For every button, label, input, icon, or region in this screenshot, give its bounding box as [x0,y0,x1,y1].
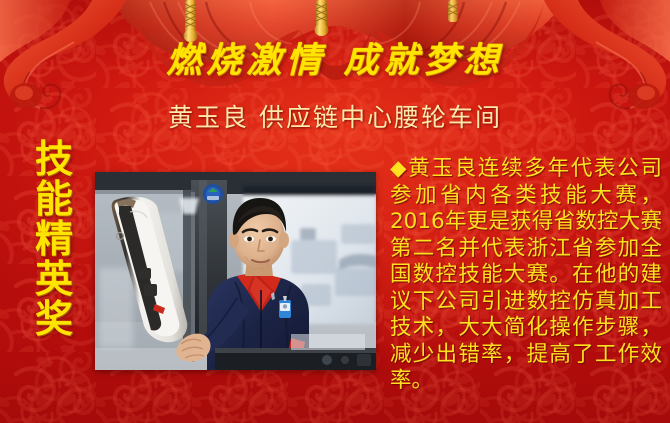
tassel-cord-far-right [448,0,458,22]
award-char-4: 英 [30,259,78,299]
page-title: 燃烧激情 成就梦想 [0,38,670,84]
award-char-2: 能 [30,179,78,219]
subtitle-name-department: 黄玉良 供应链中心腰轮车间 [0,102,670,134]
award-char-1: 技 [30,139,78,179]
person-photo [95,172,376,370]
achievement-description: ◆黄玉良连续多年代表公司参加省内各类技能大赛，2016年更是获得省数控大赛第二名… [390,156,662,395]
tassel-cord-left [184,0,198,42]
award-poster: 燃烧激情 成就梦想 黄玉良 供应链中心腰轮车间 技 能 精 英 奖 [0,0,670,423]
tassel-cord-right [315,0,329,36]
award-label-vertical: 技 能 精 英 奖 [30,139,78,339]
award-char-3: 精 [30,219,78,259]
award-char-5: 奖 [30,299,78,339]
